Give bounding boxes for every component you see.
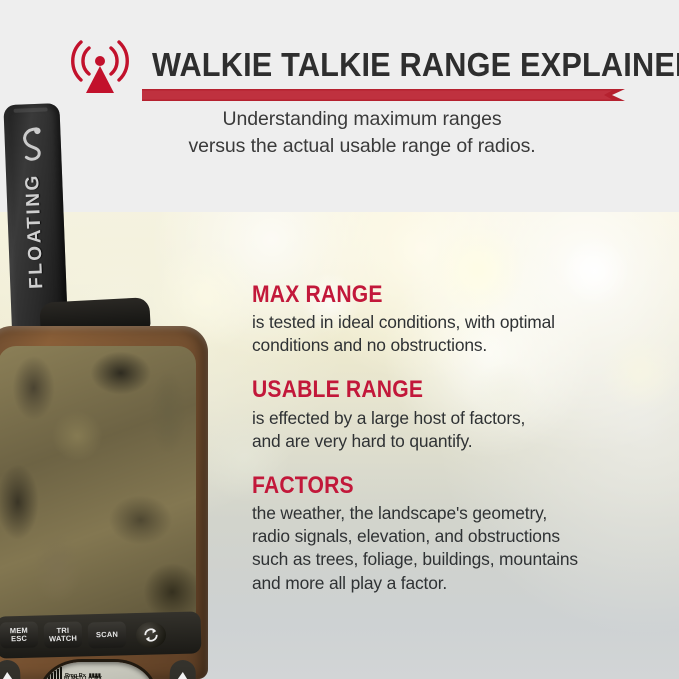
body-line: and are very hard to quantify. (252, 430, 658, 453)
volume-up-icon[interactable] (1, 672, 13, 679)
section-heading: FACTORS (252, 473, 609, 498)
radio-body: MEM ESC TRI WATCH SCAN VOLUME (0, 326, 208, 679)
infographic-root: WALKIE TALKIE RANGE EXPLAINED Understand… (0, 0, 679, 679)
header-content: WALKIE TALKIE RANGE EXPLAINED Understand… (62, 32, 662, 96)
section-heading: MAX RANGE (252, 282, 609, 307)
mem-esc-button[interactable]: MEM ESC (0, 622, 38, 649)
channel-rocker[interactable]: CHANNEL (166, 660, 196, 679)
title-divider (142, 88, 625, 100)
scan-label: SCAN (96, 631, 118, 639)
body-line: is effected by a large host of factors, (252, 407, 658, 430)
body-line: the weather, the landscape's geometry, (252, 502, 658, 525)
tri-watch-line-2: WATCH (49, 635, 77, 644)
section-heading: USABLE RANGE (252, 377, 609, 402)
tri-watch-button[interactable]: TRI WATCH (44, 622, 83, 649)
body-line: and more all play a factor. (252, 572, 658, 595)
channel-up-icon[interactable] (177, 672, 189, 679)
body-line: is tested in ideal conditions, with opti… (252, 311, 658, 334)
antenna-floating-label: FLOATING (21, 146, 50, 317)
camo-faceplate (0, 346, 196, 646)
walkie-talkie-device: FLOATING MEM ESC TRI WATCH SCAN (0, 104, 230, 679)
scan-button[interactable]: SCAN (88, 622, 127, 649)
section-max-range: MAX RANGE is tested in ideal conditions,… (252, 282, 658, 357)
body-line: such as trees, foliage, buildings, mount… (252, 548, 658, 571)
body-line: conditions and no obstructions. (252, 334, 658, 357)
broadcast-tower-icon (62, 32, 138, 96)
section-body: the weather, the landscape's geometry, r… (252, 502, 658, 595)
section-usable-range: USABLE RANGE is effected by a large host… (252, 377, 658, 452)
antenna-cap (14, 107, 48, 112)
title-row: WALKIE TALKIE RANGE EXPLAINED (62, 32, 662, 96)
page-title: WALKIE TALKIE RANGE EXPLAINED (152, 48, 679, 81)
body-line: radio signals, elevation, and obstructio… (252, 525, 658, 548)
volume-rocker[interactable]: VOLUME (0, 660, 24, 679)
signal-bars-icon (48, 667, 62, 679)
lcd-display: Rmg Rx ▮▮▮▮ HI MED LO MX DAB 22 TM DCS S… (42, 662, 154, 679)
section-body: is effected by a large host of factors, … (252, 407, 658, 453)
section-body: is tested in ideal conditions, with opti… (252, 311, 658, 357)
section-factors: FACTORS the weather, the landscape's geo… (252, 473, 658, 595)
mem-esc-line-2: ESC (11, 635, 27, 643)
content-column: MAX RANGE is tested in ideal conditions,… (252, 282, 658, 595)
